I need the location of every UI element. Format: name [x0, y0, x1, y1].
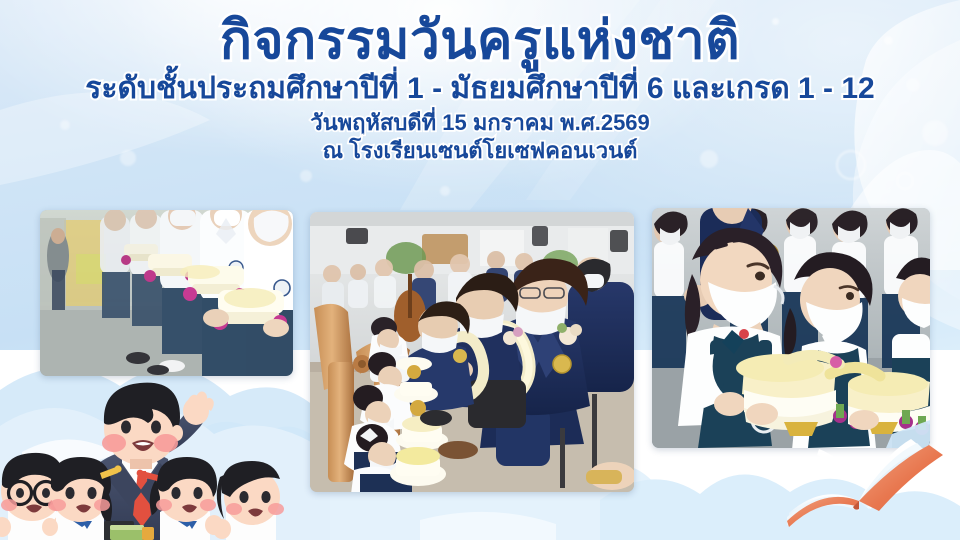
subtitle-grades: ระดับชั้นประถมศึกษาปีที่ 1 - มัธยมศึกษาป…	[0, 72, 960, 105]
bokeh-dot	[440, 186, 450, 196]
bokeh-dot	[300, 170, 312, 182]
photo-right[interactable]	[652, 208, 930, 448]
cartoon-student-right	[213, 461, 284, 540]
headings-block: กิจกรรมวันครูแห่งชาติ ระดับชั้นประถมศึกษ…	[0, 0, 960, 165]
page-title: กิจกรรมวันครูแห่งชาติ	[0, 0, 960, 68]
teacher-and-students-cartoon	[0, 375, 300, 540]
open-book-illustration	[783, 429, 958, 534]
photo-center[interactable]	[310, 212, 634, 492]
photo-left-image	[40, 210, 293, 376]
bokeh-ring	[896, 172, 914, 190]
subtitle-venue: ณ โรงเรียนเซนต์โยเซฟคอนเวนต์	[0, 138, 960, 165]
photo-center-image	[310, 212, 634, 492]
subtitle-date: วันพฤหัสบดีที่ 15 มกราคม พ.ศ.2569	[0, 110, 960, 137]
photo-left[interactable]	[40, 210, 293, 376]
photo-right-image	[652, 208, 930, 448]
poster-canvas: กิจกรรมวันครูแห่งชาติ ระดับชั้นประถมศึกษ…	[0, 0, 960, 540]
